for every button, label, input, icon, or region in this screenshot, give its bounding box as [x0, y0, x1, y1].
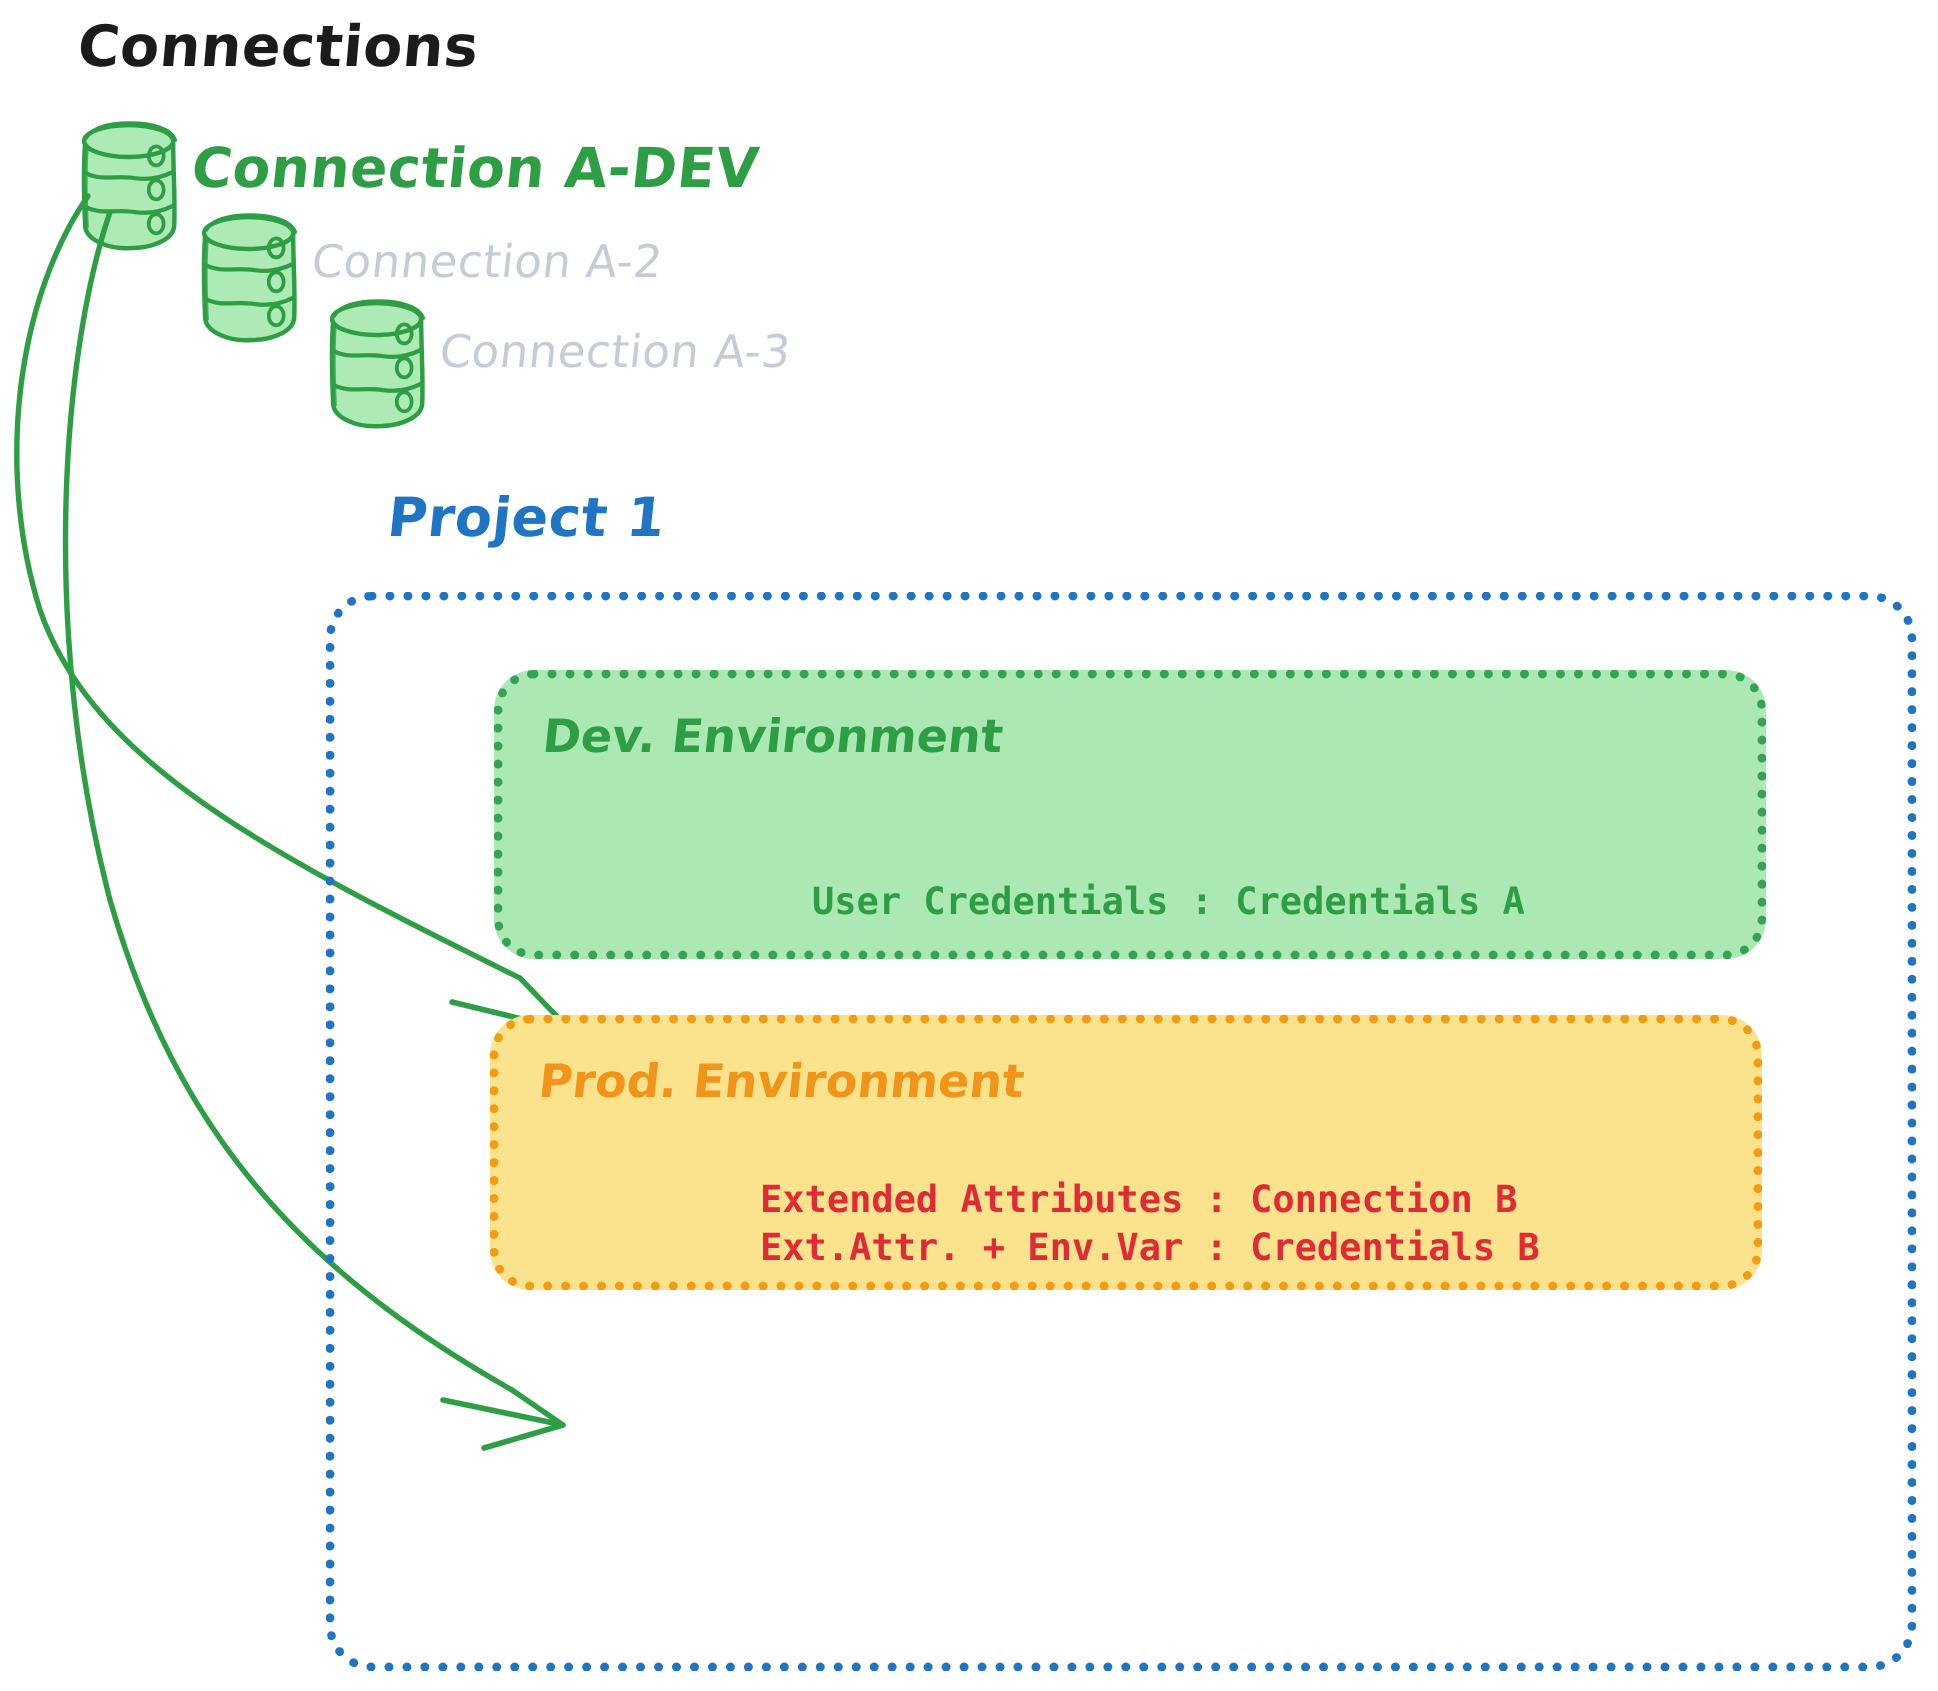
database-icon-connection-a-3[interactable]: [332, 301, 423, 426]
project-label: Project 1: [385, 486, 669, 549]
connection-label-a-3[interactable]: Connection A-3: [437, 325, 793, 378]
dev-environment-title: Dev. Environment: [540, 709, 1006, 763]
database-icon-connection-a-2[interactable]: [204, 215, 295, 340]
prod-environment-credentials-line: Ext.Attr. + Env.Var : Credentials B: [760, 1226, 1540, 1269]
connection-label-a-dev[interactable]: Connection A-DEV: [189, 136, 763, 200]
prod-environment-title: Prod. Environment: [536, 1054, 1027, 1108]
diagram-canvas: Connections Connection A-DEV Connection …: [0, 0, 1938, 1691]
database-icon-connection-a-dev[interactable]: [84, 123, 175, 248]
connection-label-a-2[interactable]: Connection A-2: [309, 235, 665, 288]
dev-environment-credentials-line: User Credentials : Credentials A: [812, 880, 1525, 923]
page-title: Connections: [75, 14, 481, 80]
prod-environment-attributes-line: Extended Attributes : Connection B: [760, 1178, 1517, 1221]
